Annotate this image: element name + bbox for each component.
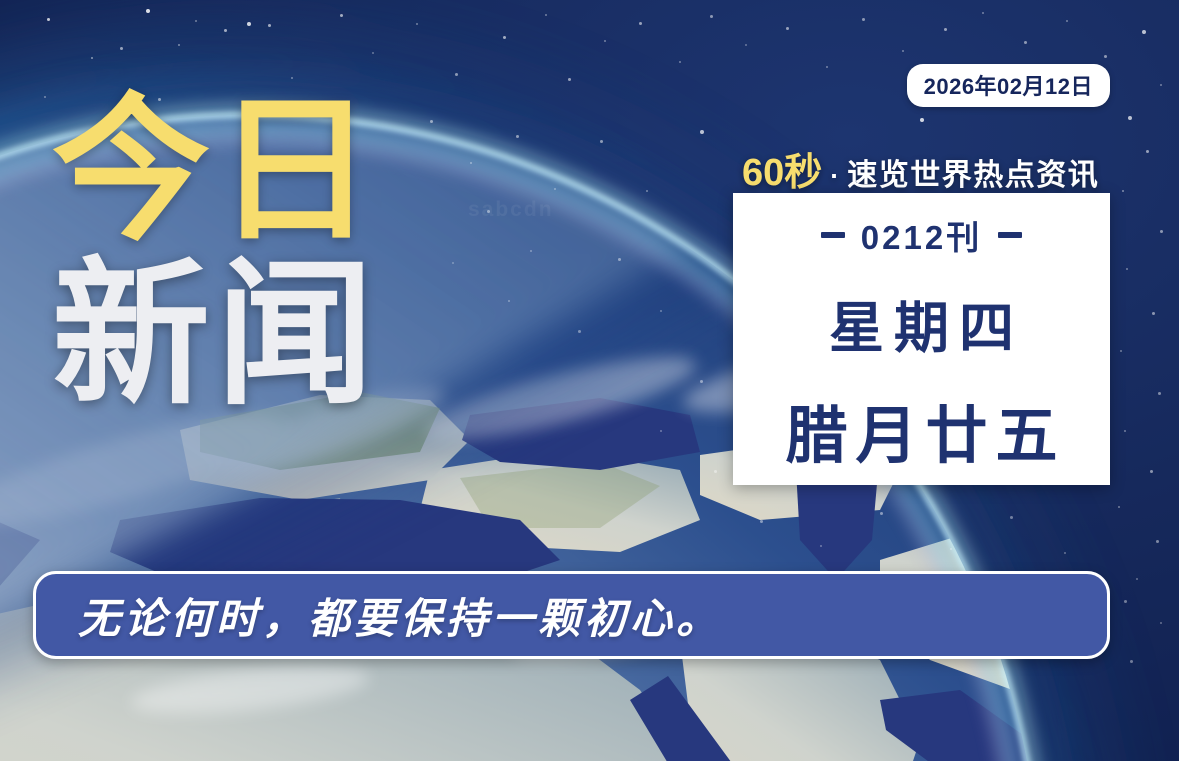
date-badge: 2026年02月12日 xyxy=(907,64,1110,107)
weekday-label: 星期四 xyxy=(819,283,1024,363)
title-line-news: 新闻 xyxy=(52,260,380,412)
watermark-text: sabcdn xyxy=(468,198,554,222)
news-poster: sabcdn 今日 新闻 2026年02月12日 60秒 · 速览世界热点资讯 … xyxy=(0,0,1179,761)
quote-banner: 无论何时，都要保持一颗初心。 xyxy=(33,571,1110,659)
quote-text: 无论何时，都要保持一颗初心。 xyxy=(36,585,722,646)
tagline-separator-icon: · xyxy=(826,161,843,192)
page-title: 今日 新闻 xyxy=(52,96,380,411)
dash-left-icon xyxy=(821,232,845,238)
title-line-today: 今日 xyxy=(52,96,380,248)
dash-right-icon xyxy=(998,232,1022,238)
issue-number-row: 0212刊 xyxy=(821,211,1022,259)
tagline-text: 速览世界热点资讯 xyxy=(847,150,1099,194)
date-info-card: 0212刊 星期四 腊月廿五 xyxy=(733,193,1110,485)
tagline-seconds: 60秒 xyxy=(742,141,822,196)
lunar-date-label: 腊月廿五 xyxy=(777,385,1065,475)
tagline: 60秒 · 速览世界热点资讯 xyxy=(742,141,1099,196)
issue-number-label: 0212刊 xyxy=(861,211,982,259)
